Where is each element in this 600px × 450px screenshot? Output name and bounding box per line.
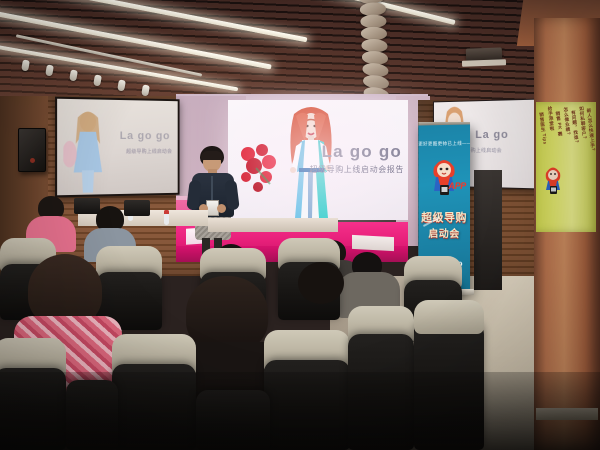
conference-table	[208, 218, 338, 232]
attendee-head	[186, 276, 268, 352]
seat	[0, 368, 66, 450]
seat	[414, 322, 484, 450]
water-bottle	[164, 210, 169, 225]
presenter-arm-right	[224, 179, 240, 210]
column-poster: 新人怎么快速上手? 如何私聊客户? 有问题，找谁? 怎么做业绩? 销售 PK 赛…	[536, 102, 596, 232]
seat	[66, 380, 118, 450]
banner-title-line2: 启动会	[418, 225, 470, 240]
banner-app-label: APP	[448, 181, 466, 191]
seat	[112, 364, 196, 450]
banner-tagline: 更好更酷更帅已上线——	[418, 141, 470, 148]
main-screen-logo: La go go	[322, 142, 402, 162]
seat-headrest	[414, 300, 484, 334]
projection-screen-main: La go go 超级导购上线启动会报告	[228, 100, 408, 220]
slide-fashion-model	[274, 106, 348, 220]
dark-display-board	[474, 170, 502, 290]
wall-speaker-box	[18, 128, 46, 172]
poster-text-line: 销售医生 Tips	[538, 112, 547, 145]
poster-text-line: 新人怎么快速上手?	[586, 108, 596, 152]
poster-text-line: 销售 PK 赛	[555, 111, 564, 137]
left-screen-logo: La go go	[120, 130, 170, 142]
terracotta-column	[534, 18, 600, 450]
right-screen-logo: La go	[475, 129, 508, 141]
main-screen-subtitle: 超级导购上线启动会报告	[309, 164, 404, 175]
presenter-hand-right	[217, 204, 226, 213]
desktop-monitor	[74, 198, 100, 214]
presenter	[186, 146, 242, 258]
seat	[196, 390, 270, 450]
left-screen-subtitle: 超级导购上线启动会	[126, 148, 172, 155]
slide-model-illustration	[63, 109, 112, 193]
attendee-head	[298, 262, 344, 304]
seat	[348, 334, 414, 450]
speaker-led-icon	[30, 158, 35, 163]
seat	[264, 360, 350, 450]
presenter-lanyard	[211, 176, 213, 202]
stage-laptop-table	[352, 235, 394, 251]
presenter-hair-front	[201, 151, 223, 160]
conference-hall-photo: La go go 超级导购上线启动会	[0, 0, 600, 450]
right-screen-subtitle: 导购上线启动会	[466, 147, 502, 154]
projection-screen-left: La go go 超级导购上线启动会	[55, 97, 180, 198]
poster-mascot-icon	[542, 164, 564, 194]
desktop-monitor	[124, 200, 150, 216]
poster-text-line: 给手添堂啦	[547, 106, 556, 131]
column-base	[536, 408, 598, 420]
